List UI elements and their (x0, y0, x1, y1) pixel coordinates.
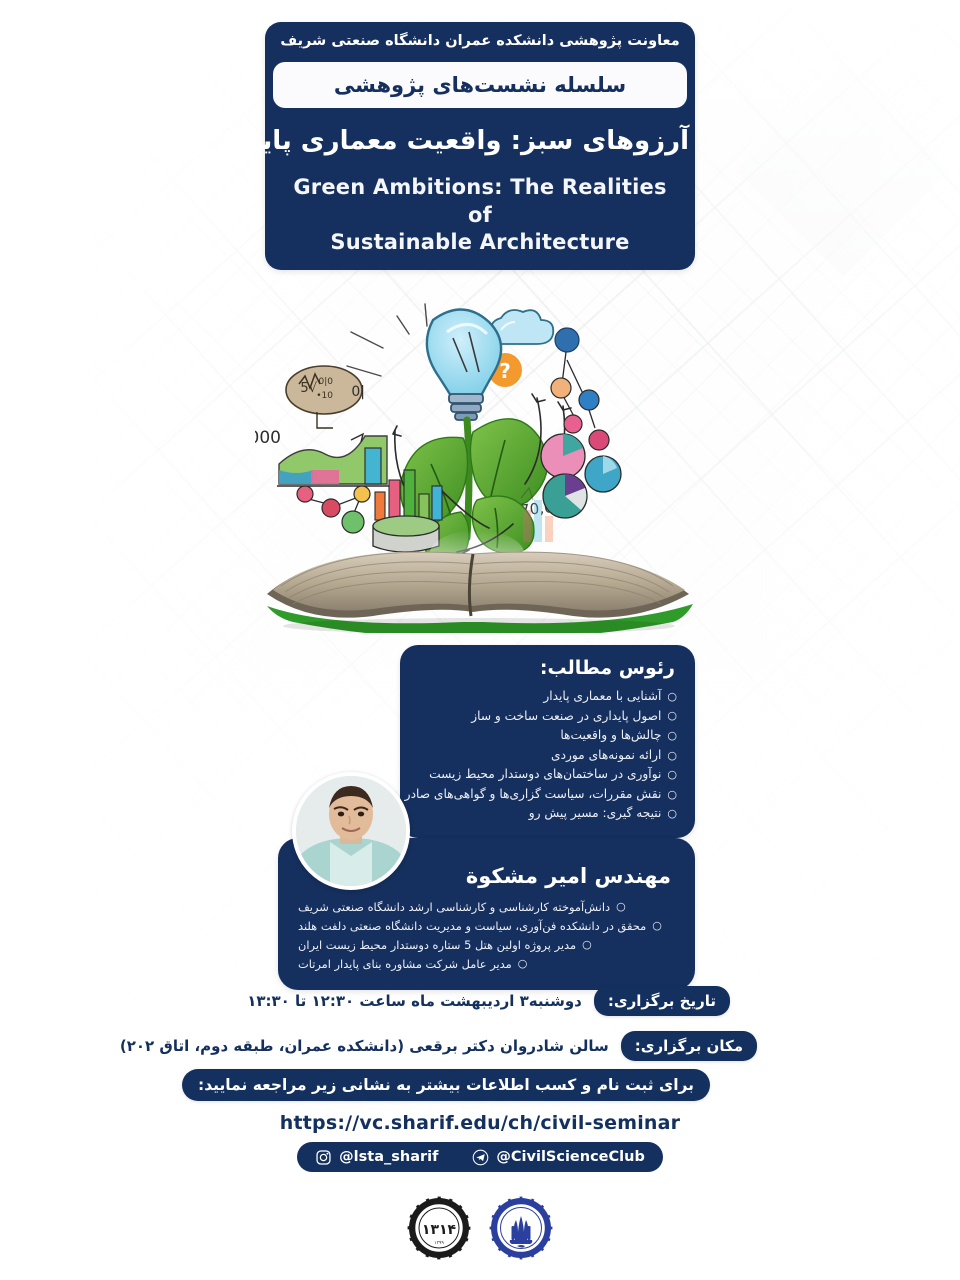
topics-heading: رئوس مطالب: (418, 657, 675, 679)
speaker-credential-label: مدیر پروژه اولین هتل 5 ستاره دوستدار محی… (298, 936, 576, 955)
topic-item-label: نتیجه گیری: مسیر پیش رو (529, 804, 662, 824)
seminar-poster: معاونت پژوهشی دانشکده عمران دانشگاه صنعت… (0, 0, 960, 1280)
poster-title-english-line1: Green Ambitions: The Realities of (289, 174, 671, 229)
venue-value: سالن شادروان دکتر برقعی (دانشکده عمران، … (120, 1037, 609, 1055)
organizer-text: معاونت پژوهشی دانشکده عمران دانشگاه صنعت… (265, 22, 695, 60)
series-band: سلسله نشست‌های پژوهشی (273, 62, 687, 108)
cylinder-chart-sketch (373, 516, 439, 552)
svg-text:۱۳۹۹: ۱۳۹۹ (434, 1240, 444, 1246)
date-label: تاریخ برگزاری: (594, 986, 730, 1016)
network-sketch-right (551, 328, 609, 450)
speaker-credential: ○ مدیر عامل شرکت مشاوره بنای پایدار امرت… (298, 955, 675, 974)
bullet-circle-icon: ○ (667, 707, 677, 725)
topic-item: ○ ارائه نمونه‌های موردی (418, 746, 677, 766)
venue-label: مکان برگزاری: (621, 1031, 757, 1061)
cta-line: برای ثبت نام و کسب اطلاعات بیشتر به نشان… (182, 1075, 710, 1094)
svg-text:|0: |0 (351, 384, 365, 400)
registration-url[interactable]: https://vc.sharif.edu/ch/civil-seminar (0, 1112, 960, 1134)
book-plant-illustration: √5 0|0 10• 10,000 |0 70,000 ? (255, 288, 705, 633)
bullet-circle-icon: ○ (582, 936, 592, 954)
svg-text:۱۳۱۴: ۱۳۱۴ (422, 1222, 457, 1238)
instagram-handle: @lsta_sharif (339, 1149, 438, 1165)
area-chart-sketch (277, 434, 389, 486)
series-title: سلسله نشست‌های پژوهشی (334, 73, 626, 97)
instagram-link[interactable]: @lsta_sharif (315, 1149, 438, 1166)
telegram-icon (472, 1149, 489, 1166)
social-links-bar: @CivilScienceClub @lsta_sharif (297, 1142, 663, 1172)
speaker-credential-label: دانش‌آموخته کارشناسی و کارشناسی ارشد دان… (298, 898, 610, 917)
telegram-handle: @CivilScienceClub (496, 1149, 644, 1165)
speaker-credential: ○ محقق در دانشکده فن‌آوری، سیاست و مدیری… (298, 917, 675, 936)
open-book (267, 552, 693, 633)
svg-text:√5: √5 (300, 381, 317, 396)
speaker-credential: ○ مدیر پروژه اولین هتل 5 ستاره دوستدار م… (298, 936, 675, 955)
bullet-circle-icon: ○ (667, 805, 677, 823)
bullet-circle-icon: ○ (667, 727, 677, 745)
speaker-credential-label: مدیر عامل شرکت مشاوره بنای پایدار امرتات (298, 955, 512, 974)
bullet-circle-icon: ○ (667, 786, 677, 804)
lightbulb-icon (427, 309, 501, 420)
svg-text:10,000: 10,000 (255, 428, 281, 448)
topic-item: ○ آشنایی با معماری پایدار (418, 687, 677, 707)
svg-text:?: ? (499, 359, 511, 383)
bullet-circle-icon: ○ (667, 747, 677, 765)
instagram-icon (315, 1149, 332, 1166)
footer-logos: ۱۳۱۴ ۱۳۹۹ (0, 1196, 960, 1260)
speaker-credential-label: محقق در دانشکده فن‌آوری، سیاست و مدیریت … (298, 917, 646, 936)
topic-item: ○ اصول پایداری در صنعت ساخت و ساز (418, 707, 677, 727)
svg-text:10•: 10• (316, 391, 333, 401)
topics-panel: رئوس مطالب: ○ آشنایی با معماری پایدار ○ … (400, 645, 695, 838)
sharif-university-logo (489, 1196, 553, 1260)
venue-line: مکان برگزاری: سالن شادروان دکتر برقعی (د… (120, 1031, 757, 1061)
poster-title-persian: آرزوهای سبز: واقعیت معماری پایدار (271, 126, 689, 156)
topic-item: ○ نقش مقررات، سیاست گزاری‌ها و گواهی‌های… (418, 785, 677, 805)
svg-text:0|0: 0|0 (318, 377, 333, 387)
topic-item: ○ نوآوری در ساختمان‌های دوستدار محیط زیس… (418, 765, 677, 785)
telegram-link[interactable]: @CivilScienceClub (472, 1149, 644, 1166)
date-value: دوشنبه۳ اردیبهشت ماه ساعت ۱۲:۳۰ تا ۱۳:۳۰ (247, 992, 582, 1010)
cta-label: برای ثبت نام و کسب اطلاعات بیشتر به نشان… (182, 1069, 710, 1101)
topic-item-label: اصول پایداری در صنعت ساخت و ساز (471, 707, 661, 727)
bullet-circle-icon: ○ (667, 766, 677, 784)
topic-item-label: نقش مقررات، سیاست گزاری‌ها و گواهی‌های ص… (378, 785, 662, 805)
topic-item: ○ چالش‌ها و واقعیت‌ها (418, 726, 677, 746)
date-line: تاریخ برگزاری: دوشنبه۳ اردیبهشت ماه ساعت… (247, 986, 730, 1016)
bullet-circle-icon: ○ (616, 898, 626, 916)
poster-title-english-line2: Sustainable Architecture (289, 229, 671, 257)
poster-title-english: Green Ambitions: The Realities of Sustai… (289, 174, 671, 257)
background-accent-diamond (737, 65, 949, 277)
topic-item-label: چالش‌ها و واقعیت‌ها (560, 726, 661, 746)
speaker-credential: ○ دانش‌آموخته کارشناسی و کارشناسی ارشد د… (298, 898, 675, 917)
network-sketch-left (297, 486, 370, 533)
social-links: @CivilScienceClub @lsta_sharif (0, 1142, 960, 1172)
speaker-avatar (292, 772, 410, 890)
civil-engineering-department-logo: ۱۳۱۴ ۱۳۹۹ (407, 1196, 471, 1260)
topic-item: ○ نتیجه گیری: مسیر پیش رو (418, 804, 677, 824)
bullet-circle-icon: ○ (518, 955, 528, 973)
topic-item-label: آشنایی با معماری پایدار (543, 687, 661, 707)
topic-item-label: نوآوری در ساختمان‌های دوستدار محیط زیست (429, 765, 661, 785)
bullet-circle-icon: ○ (652, 917, 662, 935)
pie-charts-sketch (541, 434, 621, 518)
bullet-circle-icon: ○ (667, 688, 677, 706)
header-block: معاونت پژوهشی دانشکده عمران دانشگاه صنعت… (265, 22, 695, 270)
topic-item-label: ارائه نمونه‌های موردی (551, 746, 661, 766)
